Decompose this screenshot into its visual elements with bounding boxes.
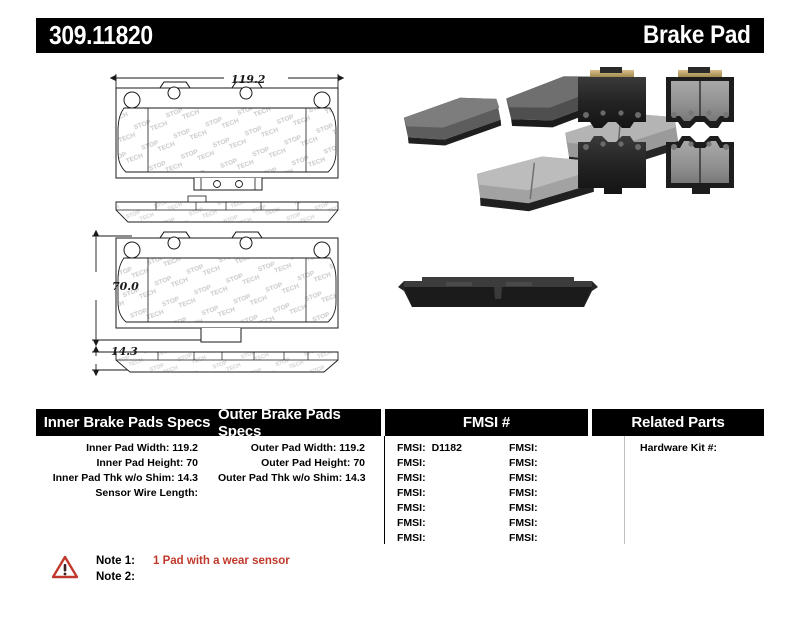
pad-front-view-top (666, 67, 734, 128)
inner-pad-edge-view (116, 196, 338, 222)
outer-spec-line: Outer Pad Thk w/o Shim: 14.3 (218, 471, 365, 486)
fmsi-subcolumn-right: FMSI: FMSI: FMSI: FMSI: FMSI: FMSI: FMSI… (509, 441, 621, 546)
inner-spec-line: Inner Pad Height: 70 (36, 456, 198, 471)
table-header-inner-specs: Inner Brake Pads Specs (36, 409, 218, 436)
pad-back-view-top (578, 67, 646, 128)
dimension-label-height: 70.0 (112, 280, 139, 293)
fmsi-row: FMSI: (397, 516, 509, 531)
fmsi-label: FMSI: (509, 532, 538, 544)
fmsi-row: FMSI: (509, 486, 621, 501)
fmsi-label: FMSI: (397, 502, 426, 514)
fmsi-value (426, 517, 432, 529)
fmsi-value (538, 517, 544, 529)
fmsi-row: FMSI: (509, 501, 621, 516)
inner-specs-column: Inner Pad Width: 119.2 Inner Pad Height:… (36, 436, 218, 501)
fmsi-label: FMSI: (509, 517, 538, 529)
related-part-line: Hardware Kit #: (640, 441, 764, 456)
fmsi-value (426, 532, 432, 544)
note-row-1: Note 1: 1 Pad with a wear sensor (96, 553, 290, 569)
fmsi-label: FMSI: (509, 502, 538, 514)
fmsi-value (538, 532, 544, 544)
fmsi-label: FMSI: (509, 457, 538, 469)
inner-pad-front-view (116, 82, 338, 190)
fmsi-subcolumn-left: FMSI:D1182 FMSI: FMSI: FMSI: FMSI: FMSI:… (397, 441, 509, 546)
fmsi-row: FMSI:D1182 (397, 441, 509, 456)
inner-spec-line: Inner Pad Thk w/o Shim: 14.3 (36, 471, 198, 486)
fmsi-label: FMSI: (397, 487, 426, 499)
technical-drawing-panel: 119.2 70.0 14.3 STOP TECH STOP TECH (36, 60, 386, 390)
dimension-label-thickness: 14.3 (111, 345, 138, 358)
fmsi-label: FMSI: (509, 487, 538, 499)
fmsi-value (426, 457, 432, 469)
fmsi-value (426, 472, 432, 484)
table-header-fmsi: FMSI # (385, 409, 588, 436)
fmsi-column: FMSI:D1182 FMSI: FMSI: FMSI: FMSI: FMSI:… (389, 436, 625, 546)
inner-spec-line: Sensor Wire Length: (36, 486, 198, 501)
fmsi-value (538, 457, 544, 469)
part-number: 309.11820 (49, 20, 153, 51)
outer-spec-line: Outer Pad Height: 70 (218, 456, 365, 471)
note-row-2: Note 2: (96, 569, 290, 585)
note-1-value: 1 Pad with a wear sensor (148, 553, 290, 569)
dimension-label-width: 119.2 (231, 73, 265, 86)
photo-pad-edge-view (398, 277, 598, 307)
fmsi-value: D1182 (426, 442, 462, 454)
fmsi-row: FMSI: (397, 456, 509, 471)
fmsi-row: FMSI: (397, 501, 509, 516)
fmsi-label: FMSI: (397, 457, 426, 469)
pad-back-view-bottom (578, 136, 646, 194)
product-photos-svg (390, 60, 766, 390)
outer-pad-front-view (116, 232, 338, 342)
pad-drawings-svg: STOP TECH STOP TECH (36, 60, 386, 390)
table-header-outer-specs: Outer Brake Pads Specs (218, 409, 381, 436)
fmsi-row: FMSI: (509, 441, 621, 456)
fmsi-value (538, 472, 544, 484)
fmsi-value (426, 487, 432, 499)
pad-front-view-bottom (666, 136, 734, 194)
outer-pad-edge-view (116, 352, 338, 372)
outer-spec-line: Outer Pad Width: 119.2 (218, 441, 365, 456)
note-1-label: Note 1: (96, 553, 148, 569)
product-type-title: Brake Pad (643, 21, 751, 50)
fmsi-row: FMSI: (397, 531, 509, 546)
notes-section: Note 1: 1 Pad with a wear sensor Note 2: (52, 553, 452, 585)
fmsi-value (538, 502, 544, 514)
table-header-row: Inner Brake Pads Specs Outer Brake Pads … (36, 409, 764, 436)
fmsi-value (538, 442, 544, 454)
specifications-table: Inner Brake Pads Specs Outer Brake Pads … (36, 409, 764, 544)
fmsi-value (538, 487, 544, 499)
related-parts-column: Hardware Kit #: (628, 436, 764, 456)
product-photo-panel (390, 60, 766, 390)
fmsi-row: FMSI: (509, 516, 621, 531)
warning-triangle-icon (52, 555, 78, 579)
table-body: Inner Pad Width: 119.2 Inner Pad Height:… (36, 436, 764, 544)
fmsi-label: FMSI: (397, 472, 426, 484)
fmsi-label: FMSI: (397, 442, 426, 454)
header-bar: 309.11820 Brake Pad (36, 18, 764, 53)
fmsi-label: FMSI: (397, 532, 426, 544)
fmsi-label: FMSI: (509, 442, 538, 454)
fmsi-label: FMSI: (397, 517, 426, 529)
fmsi-row: FMSI: (509, 456, 621, 471)
fmsi-row: FMSI: (509, 471, 621, 486)
fmsi-row: FMSI: (397, 486, 509, 501)
fmsi-value (426, 502, 432, 514)
inner-spec-line: Inner Pad Width: 119.2 (36, 441, 198, 456)
notes-text-block: Note 1: 1 Pad with a wear sensor Note 2: (96, 553, 290, 585)
table-header-related-parts: Related Parts (592, 409, 764, 436)
fmsi-row: FMSI: (509, 531, 621, 546)
outer-specs-column: Outer Pad Width: 119.2 Outer Pad Height:… (218, 436, 385, 486)
fmsi-row: FMSI: (397, 471, 509, 486)
note-2-label: Note 2: (96, 569, 148, 585)
fmsi-label: FMSI: (509, 472, 538, 484)
